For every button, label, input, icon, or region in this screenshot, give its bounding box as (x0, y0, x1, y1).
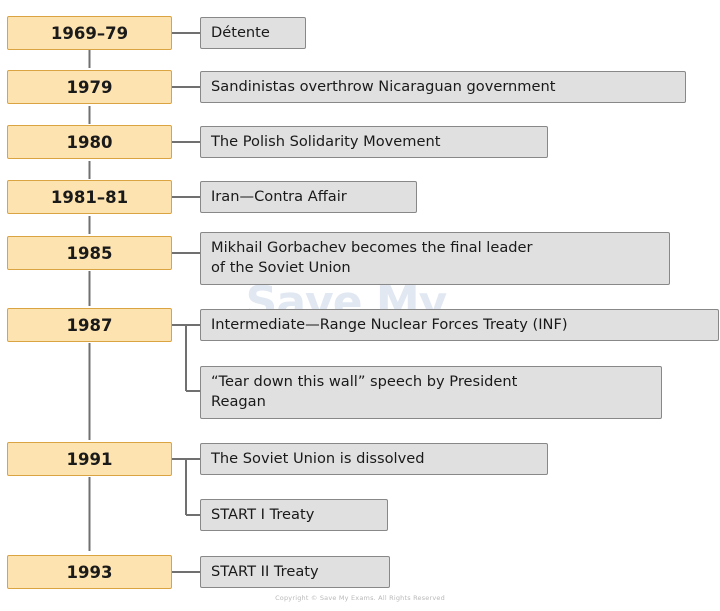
date-box-1993[interactable]: 1993 (7, 555, 172, 589)
date-box-1985[interactable]: 1985 (7, 236, 172, 270)
event-box-detente[interactable]: Détente (200, 17, 306, 49)
copyright-notice: Copyright © Save My Exams. All Rights Re… (0, 594, 720, 602)
date-box-1991[interactable]: 1991 (7, 442, 172, 476)
timeline-diagram: Save My (0, 0, 720, 611)
event-box-gorbachev[interactable]: Mikhail Gorbachev becomes the final lead… (200, 232, 670, 285)
event-box-sandinistas[interactable]: Sandinistas overthrow Nicaraguan governm… (200, 71, 686, 103)
event-box-soviet-union-dissolved[interactable]: The Soviet Union is dissolved (200, 443, 548, 475)
date-box-1987[interactable]: 1987 (7, 308, 172, 342)
date-box-1981-81[interactable]: 1981–81 (7, 180, 172, 214)
date-box-1979[interactable]: 1979 (7, 70, 172, 104)
event-box-inf-treaty[interactable]: Intermediate—Range Nuclear Forces Treaty… (200, 309, 719, 341)
event-box-start-i-treaty[interactable]: START I Treaty (200, 499, 388, 531)
event-box-iran-contra[interactable]: Iran—Contra Affair (200, 181, 417, 213)
date-box-1980[interactable]: 1980 (7, 125, 172, 159)
event-box-polish-solidarity[interactable]: The Polish Solidarity Movement (200, 126, 548, 158)
event-box-tear-down-this-wall[interactable]: “Tear down this wall” speech by Presiden… (200, 366, 662, 419)
date-box-1969-79[interactable]: 1969–79 (7, 16, 172, 50)
event-box-start-ii-treaty[interactable]: START II Treaty (200, 556, 390, 588)
